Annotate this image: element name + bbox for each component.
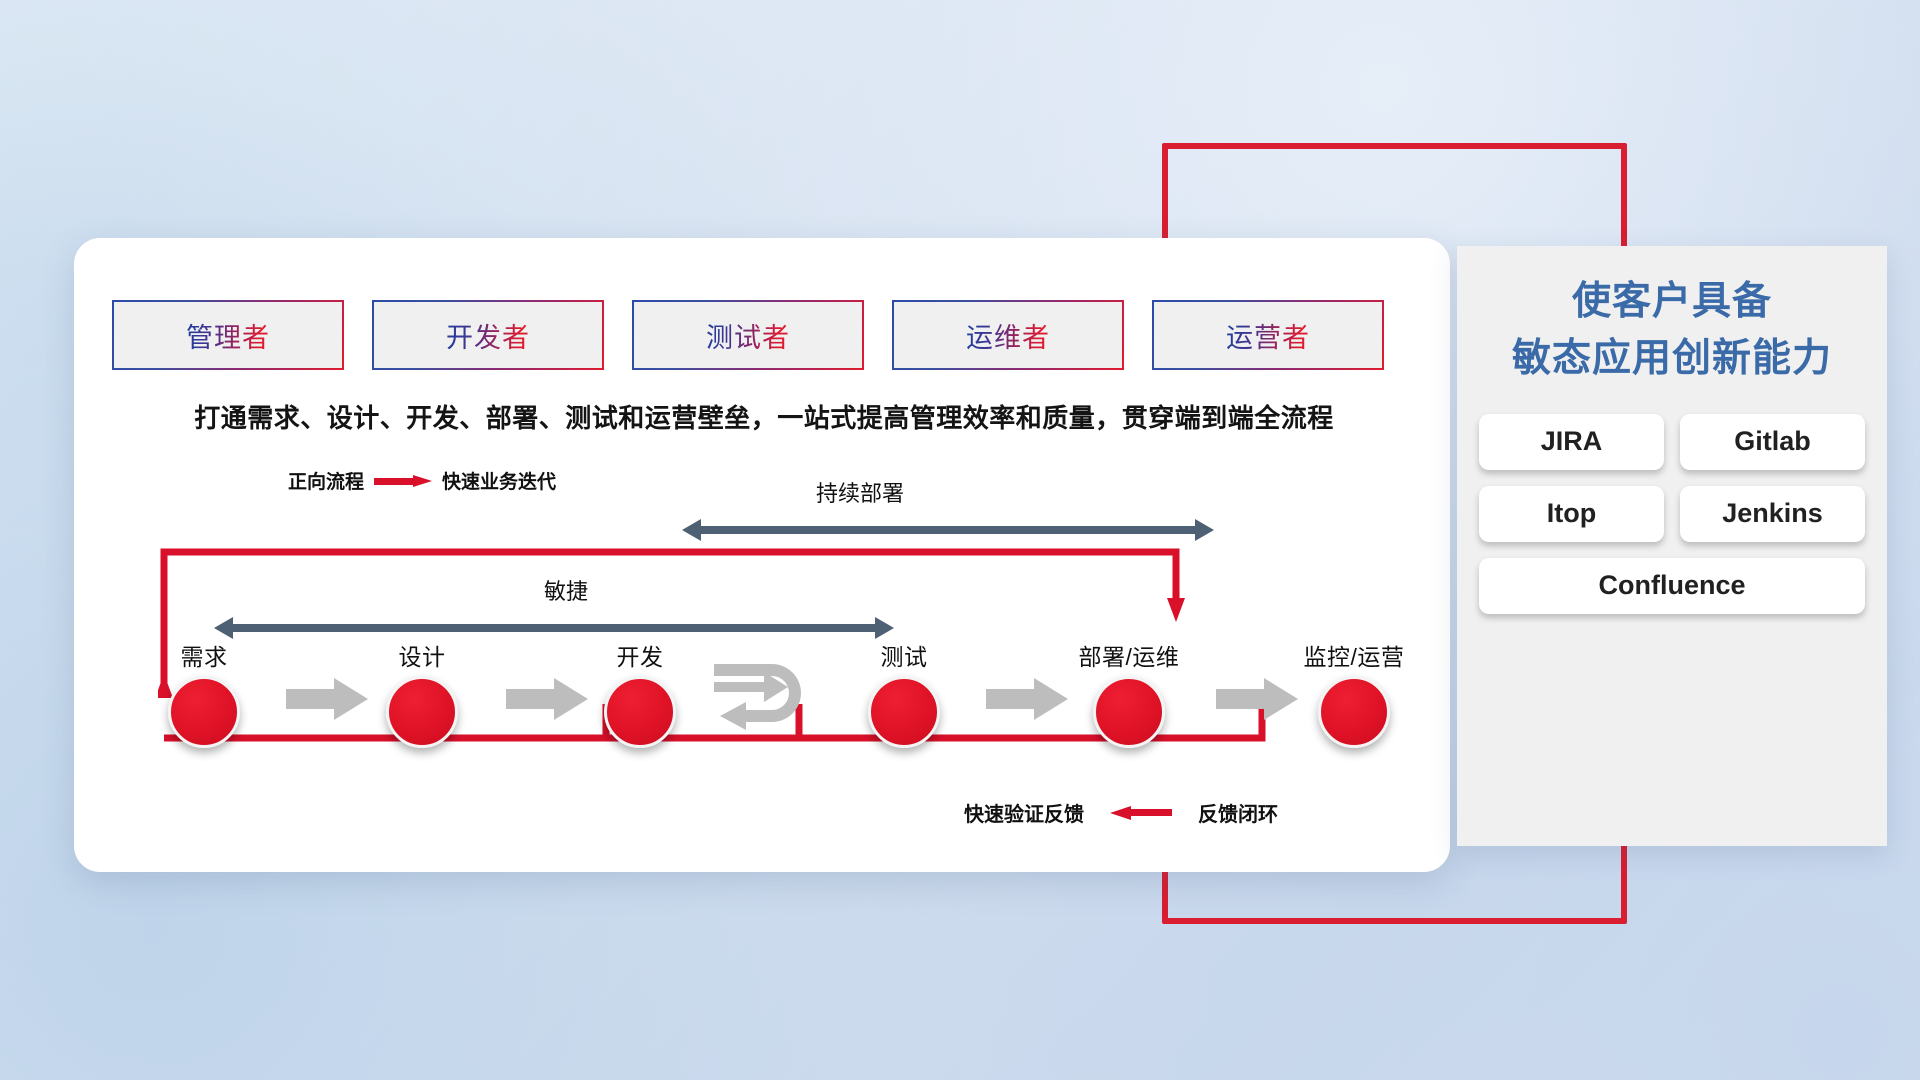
legend-forward-flow: 正向流程 快速业务迭代 bbox=[288, 467, 556, 494]
panel-title: 使客户具备 敏态应用创新能力 bbox=[1457, 246, 1887, 394]
node-label: 部署/运维 bbox=[1049, 638, 1209, 672]
main-white-card: 管理者 开发者 测试者 运维者 运营者 打通需求、设计、开发、部署、测试和运营壁… bbox=[74, 238, 1450, 872]
tool-chip-list: JIRA Gitlab Itop Jenkins Confluence bbox=[1457, 394, 1887, 614]
role-box-developer[interactable]: 开发者 bbox=[372, 300, 604, 370]
tool-chip-jira[interactable]: JIRA bbox=[1479, 414, 1664, 470]
double-arrow-agile-icon bbox=[214, 617, 894, 639]
outcome-panel: 使客户具备 敏态应用创新能力 JIRA Gitlab Itop Jenkins … bbox=[1457, 246, 1887, 846]
tool-chip-itop[interactable]: Itop bbox=[1479, 486, 1664, 542]
node-label: 开发 bbox=[570, 638, 710, 672]
role-label: 管理者 bbox=[186, 316, 270, 355]
tool-chip-jenkins[interactable]: Jenkins bbox=[1680, 486, 1865, 542]
node-dot-icon bbox=[604, 676, 676, 748]
node-label: 测试 bbox=[834, 638, 974, 672]
node-label: 需求 bbox=[134, 638, 274, 672]
red-arrow-right-icon bbox=[374, 475, 432, 487]
pipeline-node-requirement[interactable]: 需求 bbox=[134, 638, 274, 748]
node-label: 设计 bbox=[352, 638, 492, 672]
role-box-tester[interactable]: 测试者 bbox=[632, 300, 864, 370]
pipeline-node-testing[interactable]: 测试 bbox=[834, 638, 974, 748]
pipeline-node-design[interactable]: 设计 bbox=[352, 638, 492, 748]
tool-chip-gitlab[interactable]: Gitlab bbox=[1680, 414, 1865, 470]
double-arrow-continuous-deployment-icon bbox=[682, 519, 1214, 541]
pipeline-node-deploy-ops[interactable]: 部署/运维 bbox=[1049, 638, 1209, 748]
node-label: 监控/运营 bbox=[1274, 638, 1434, 672]
devops-pipeline: 需求 设计 开发 测试 bbox=[134, 638, 1424, 808]
role-box-row: 管理者 开发者 测试者 运维者 运营者 bbox=[112, 300, 1384, 370]
pipeline-node-monitor-operate[interactable]: 监控/运营 bbox=[1274, 638, 1434, 748]
span-label-continuous-deployment: 持续部署 bbox=[816, 476, 904, 508]
tool-chip-confluence[interactable]: Confluence bbox=[1479, 558, 1865, 614]
role-label: 开发者 bbox=[446, 316, 530, 355]
legend-forward-source-label: 正向流程 bbox=[288, 467, 364, 494]
role-label: 运维者 bbox=[966, 316, 1050, 355]
node-dot-icon bbox=[1318, 676, 1390, 748]
node-dot-icon bbox=[168, 676, 240, 748]
node-dot-icon bbox=[868, 676, 940, 748]
role-box-manager[interactable]: 管理者 bbox=[112, 300, 344, 370]
slide-canvas: 管理者 开发者 测试者 运维者 运营者 打通需求、设计、开发、部署、测试和运营壁… bbox=[0, 0, 1920, 1080]
role-box-ops[interactable]: 运维者 bbox=[892, 300, 1124, 370]
panel-title-line2: 敏态应用创新能力 bbox=[1467, 331, 1877, 388]
node-dot-icon bbox=[1093, 676, 1165, 748]
pipeline-node-development[interactable]: 开发 bbox=[570, 638, 710, 748]
span-label-agile: 敏捷 bbox=[544, 574, 588, 606]
legend-forward-target-label: 快速业务迭代 bbox=[442, 467, 556, 494]
panel-title-line1: 使客户具备 bbox=[1467, 274, 1877, 331]
node-dot-icon bbox=[386, 676, 458, 748]
role-label: 测试者 bbox=[706, 316, 790, 355]
role-label: 运营者 bbox=[1226, 316, 1310, 355]
headline-text: 打通需求、设计、开发、部署、测试和运营壁垒，一站式提高管理效率和质量，贯穿端到端… bbox=[114, 398, 1414, 435]
gray-loop-arrow-icon bbox=[712, 662, 822, 740]
role-box-operator[interactable]: 运营者 bbox=[1152, 300, 1384, 370]
